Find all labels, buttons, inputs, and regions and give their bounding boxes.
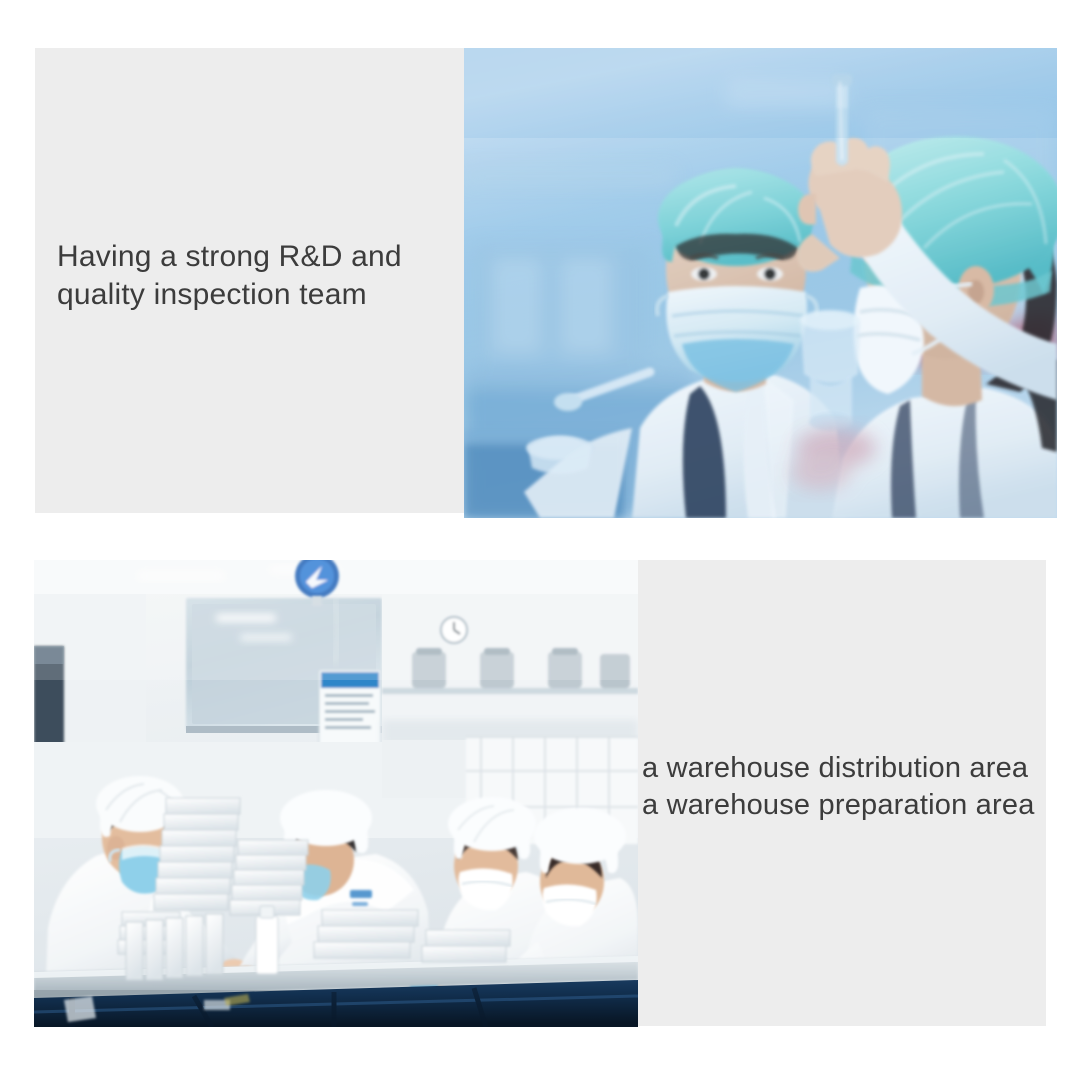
caption-warehouse: a warehouse distribution area a warehous… [642,750,1062,824]
lab-technicians-photo [464,48,1057,518]
lab-technicians-illustration [464,48,1057,518]
page-root: Having a strong R&D and quality inspecti… [0,0,1080,1080]
section-rnd-quality: Having a strong R&D and quality inspecti… [35,48,1057,518]
section-warehouse: a warehouse distribution area a warehous… [34,560,1046,1027]
warehouse-packing-illustration [34,560,638,1027]
warehouse-packing-photo [34,560,638,1027]
caption-rnd-quality: Having a strong R&D and quality inspecti… [57,238,457,314]
